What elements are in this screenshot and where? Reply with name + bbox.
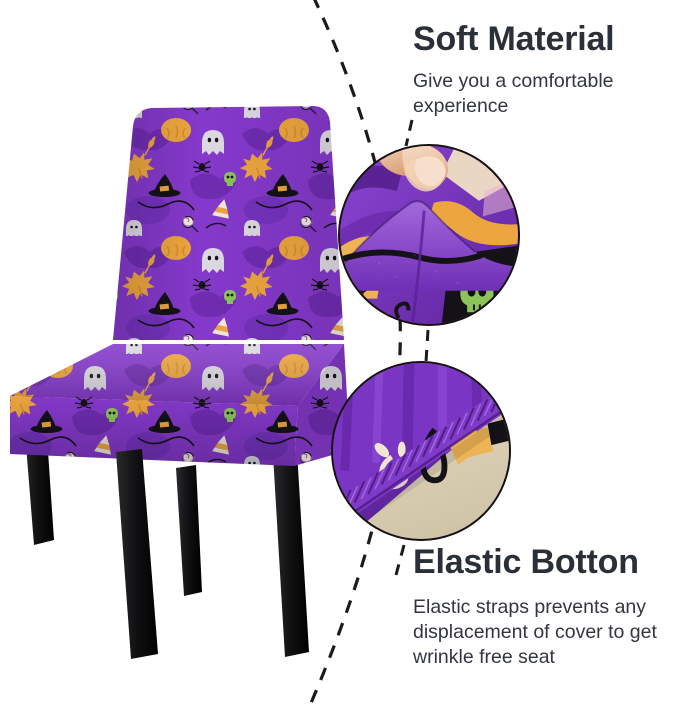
infographic-canvas: Soft Material Give you a comfortable exp… <box>0 0 679 704</box>
detail-photo-soft-material <box>338 144 520 326</box>
chair-backrest <box>113 106 344 340</box>
chair-leg-front-right <box>273 451 309 657</box>
chair-leg-front-left <box>116 449 158 659</box>
feature-subline-soft-material: Give you a comfortable experience <box>413 69 669 119</box>
chair-seat <box>10 344 350 466</box>
feature-block-soft-material: Soft Material Give you a comfortable exp… <box>413 22 675 119</box>
chair-leg-back-right <box>176 465 202 596</box>
feature-subline-elastic-botton: Elastic straps prevents any displacement… <box>413 595 675 670</box>
feature-headline-elastic-botton: Elastic Botton <box>413 545 679 581</box>
feature-headline-soft-material: Soft Material <box>413 22 675 58</box>
detail-photo-elastic-botton <box>331 361 511 541</box>
feature-block-elastic-botton: Elastic Botton Elastic straps prevents a… <box>413 545 679 670</box>
